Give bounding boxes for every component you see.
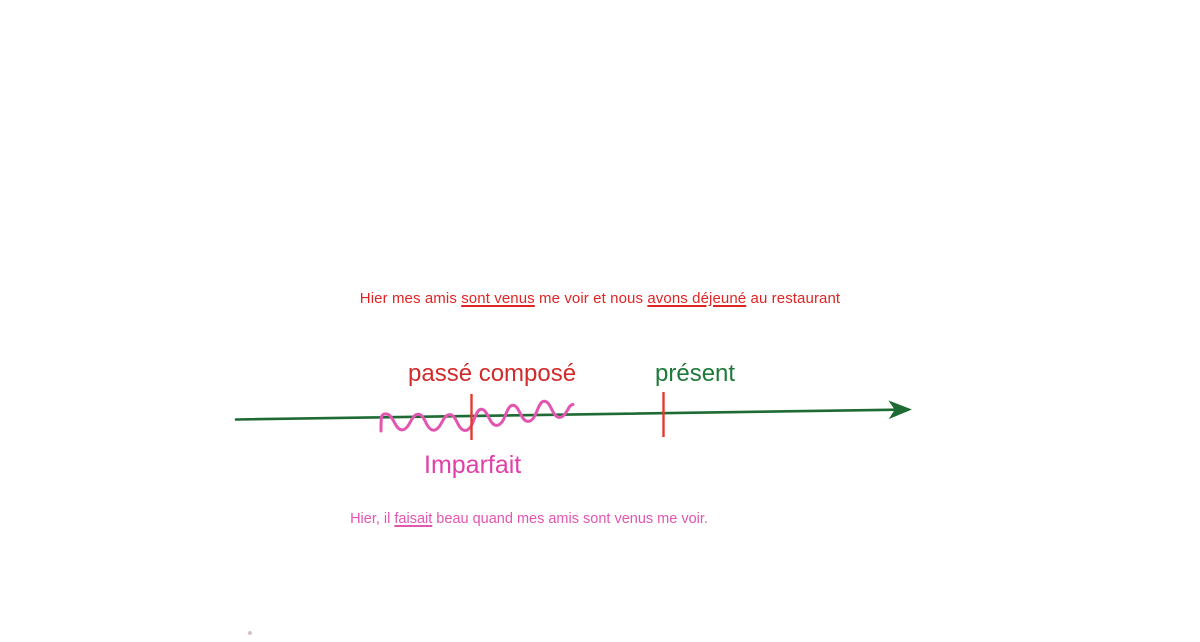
label-present: présent <box>655 360 735 388</box>
label-imparfait: Imparfait <box>424 451 521 480</box>
top-sentence-segment-2: me voir et nous <box>535 290 648 307</box>
top-sentence-highlight-avons-dejeune: avons déjeuné <box>647 290 746 307</box>
bottom-sentence-highlight-faisait: faisait <box>394 511 432 527</box>
top-sentence-segment-3: au restaurant <box>746 290 840 307</box>
imparfait-wave <box>381 401 573 431</box>
bottom-sentence-segment-1: Hier, il <box>350 511 394 527</box>
top-sentence-segment-1: Hier mes amis <box>360 290 461 307</box>
bottom-example-sentence: Hier, il faisait beau quand mes amis son… <box>0 511 1058 527</box>
bottom-sentence-segment-2: beau quand mes amis sont venus me voir. <box>432 511 708 527</box>
time-axis-line <box>236 410 908 420</box>
top-example-sentence: Hier mes amis sont venus me voir et nous… <box>0 290 1200 307</box>
top-sentence-highlight-sont-venus: sont venus <box>461 290 535 307</box>
timeline-diagram-canvas: Hier mes amis sont venus me voir et nous… <box>0 0 1200 642</box>
timeline-graphics <box>0 0 1200 642</box>
stray-dot-mark <box>248 631 252 635</box>
label-passe-compose: passé composé <box>408 360 576 388</box>
